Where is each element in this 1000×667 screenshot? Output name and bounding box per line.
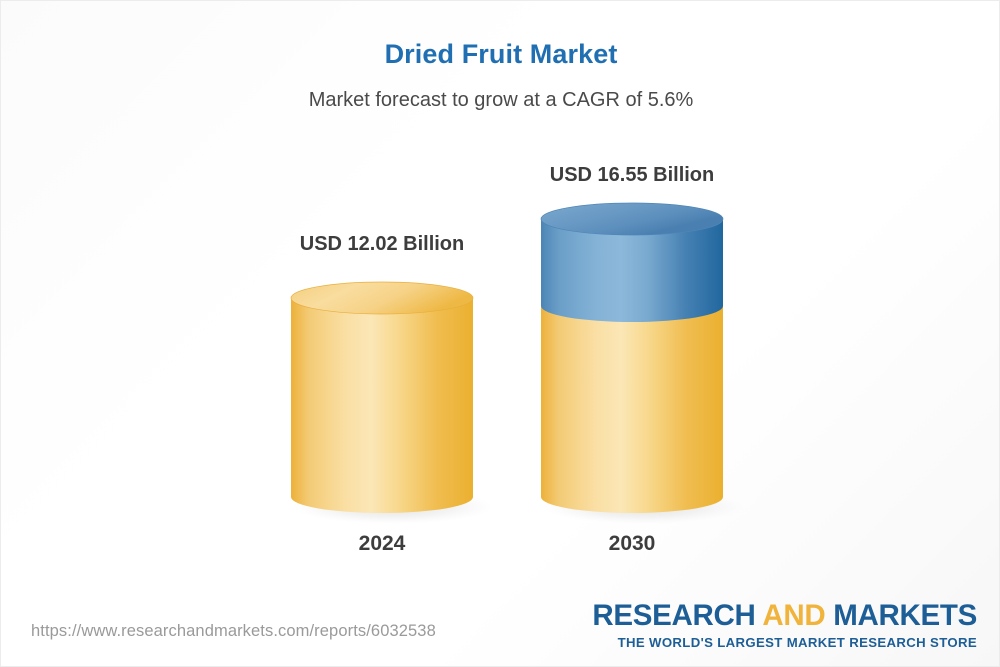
- logo-wordmark: RESEARCH AND MARKETS: [592, 601, 977, 631]
- cylinder-bars-svg: [1, 1, 1000, 601]
- chart-plot-area: USD 12.02 Billion USD 16.55 Billion 2024…: [1, 1, 1000, 601]
- bar-value-label-2024: USD 12.02 Billion: [191, 233, 573, 256]
- research-and-markets-logo: RESEARCH AND MARKETS THE WORLD'S LARGEST…: [592, 601, 977, 649]
- logo-word-and: AND: [756, 599, 834, 632]
- bar-category-label-2024: 2024: [291, 532, 473, 556]
- bar-2024-body: [291, 298, 473, 513]
- bar-2030-top-ellipse: [541, 203, 723, 235]
- bar-value-label-2030: USD 16.55 Billion: [441, 164, 823, 187]
- report-url[interactable]: https://www.researchandmarkets.com/repor…: [31, 622, 436, 641]
- bar-2030-yellow-segment: [541, 306, 723, 513]
- bar-category-label-2030: 2030: [541, 532, 723, 556]
- bar-2024: [291, 282, 493, 524]
- logo-tagline: THE WORLD'S LARGEST MARKET RESEARCH STOR…: [592, 636, 977, 649]
- bar-2024-top-ellipse: [291, 282, 473, 314]
- logo-word-research: RESEARCH: [592, 599, 755, 632]
- logo-word-markets: MARKETS: [833, 599, 977, 632]
- chart-page: Dried Fruit Market Market forecast to gr…: [0, 0, 1000, 667]
